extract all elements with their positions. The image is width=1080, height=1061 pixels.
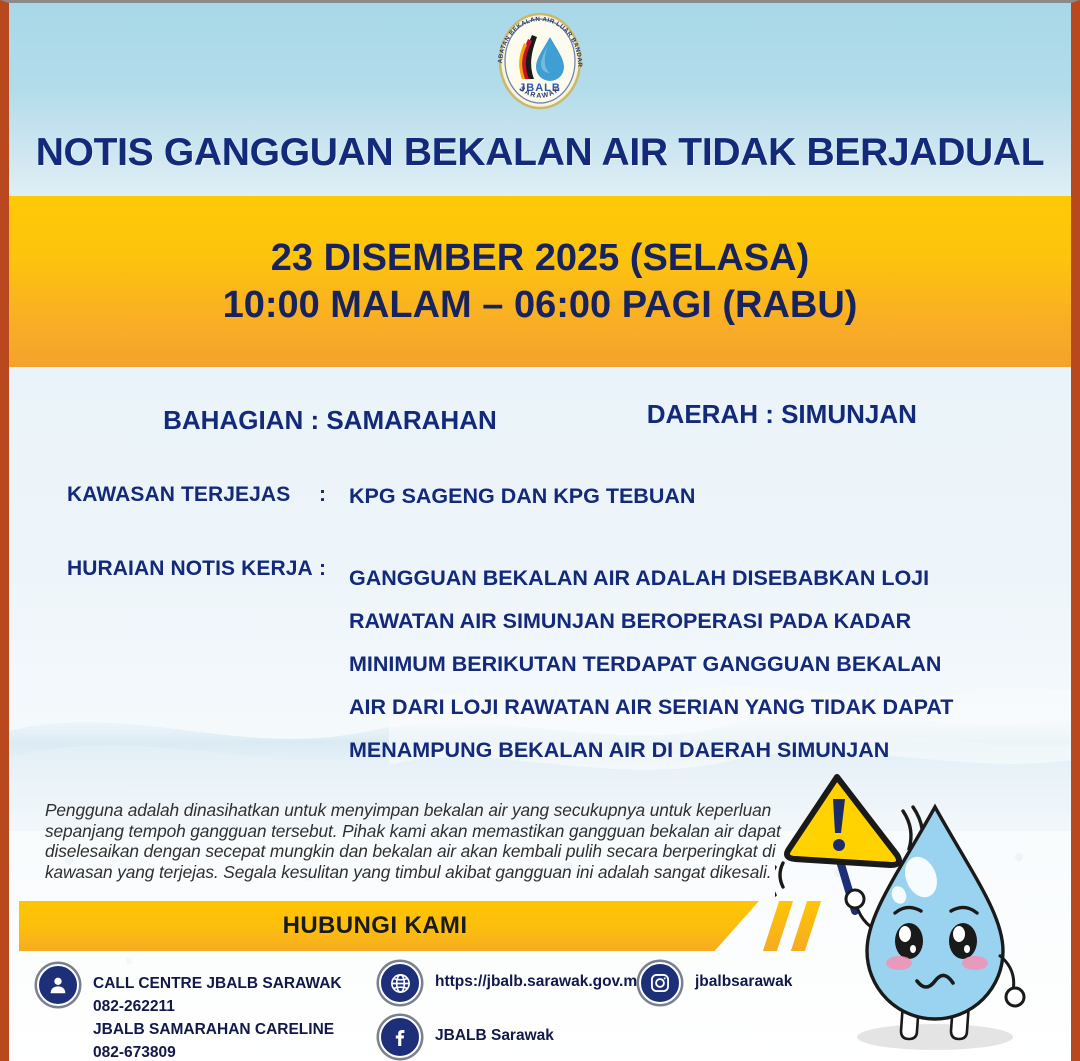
instagram-icon [639,962,681,1004]
bahagian-label: BAHAGIAN : SAMARAHAN [163,405,497,436]
globe-icon [379,962,421,1004]
huraian-line: MINIMUM BERIKUTAN TERDAPAT GANGGUAN BEKA… [349,643,1031,686]
banner-stripe-1 [763,901,793,951]
contact-banner-title: HUBUNGI KAMI [283,912,468,940]
call-centre-name: CALL CENTRE JBALB SARAWAK [93,972,342,995]
header-band: JBALB JABATAN BEKALAN AIR LUAR BANDAR SA… [9,3,1071,196]
careline-name: JBALB SAMARAHAN CARELINE [93,1018,342,1041]
website-url[interactable]: https://jbalb.sarawak.gov.my/ [435,962,650,993]
banner-stripe-2 [791,901,821,951]
huraian-line: GANGGUAN BEKALAN AIR ADALAH DISEBABKAN L… [349,557,1031,600]
outage-date: 23 DISEMBER 2025 (SELASA) [271,237,810,280]
call-centre-text: CALL CENTRE JBALB SARAWAK 082-262211 JBA… [93,964,342,1061]
contact-banner: HUBUNGI KAMI [19,901,759,951]
outage-time: 10:00 MALAM – 06:00 PAGI (RABU) [223,284,858,327]
kawasan-colon: : [319,483,349,507]
contact-facebook[interactable]: JBALB Sarawak [379,1016,554,1058]
region-row: BAHAGIAN : SAMARAHAN DAERAH : SIMUNJAN [9,399,1071,430]
call-centre-number: 082-262211 [93,995,342,1018]
field-kawasan-terjejas: KAWASAN TERJEJAS : KPG SAGENG DAN KPG TE… [67,483,1031,509]
kawasan-values: KPG SAGENG DAN KPG TEBUAN [349,483,1031,509]
kawasan-label: KAWASAN TERJEJAS [67,483,319,507]
contacts-section: CALL CENTRE JBALB SARAWAK 082-262211 JBA… [9,962,1071,1061]
facebook-page[interactable]: JBALB Sarawak [435,1016,554,1047]
advisory-text: Pengguna adalah dinasihatkan untuk menyi… [45,800,783,882]
huraian-values: GANGGUAN BEKALAN AIR ADALAH DISEBABKAN L… [349,557,1031,772]
contact-call-centre[interactable]: CALL CENTRE JBALB SARAWAK 082-262211 JBA… [37,964,342,1061]
jbalb-sarawak-logo: JBALB JABATAN BEKALAN AIR LUAR BANDAR SA… [488,9,592,113]
notice-poster: JBALB JABATAN BEKALAN AIR LUAR BANDAR SA… [0,0,1080,1061]
huraian-line: RAWATAN AIR SIMUNJAN BEROPERASI PADA KAD… [349,600,1031,643]
huraian-line: AIR DARI LOJI RAWATAN AIR SERIAN YANG TI… [349,686,1031,729]
careline-number: 082-673809 [93,1041,342,1061]
kawasan-line: KPG SAGENG DAN KPG TEBUAN [349,483,1031,509]
contact-website[interactable]: https://jbalb.sarawak.gov.my/ [379,962,650,1004]
facebook-icon [379,1016,421,1058]
huraian-label: HURAIAN NOTIS KERJA [67,557,319,581]
contact-instagram[interactable]: jbalbsarawak [639,962,792,1004]
huraian-line: MENAMPUNG BEKALAN AIR DI DAERAH SIMUNJAN [349,729,1031,772]
body-section: BAHAGIAN : SAMARAHAN DAERAH : SIMUNJAN K… [9,367,1071,1061]
huraian-colon: : [319,557,349,581]
date-band: 23 DISEMBER 2025 (SELASA) 10:00 MALAM – … [9,196,1071,367]
field-huraian-notis-kerja: HURAIAN NOTIS KERJA : GANGGUAN BEKALAN A… [67,557,1031,772]
instagram-handle[interactable]: jbalbsarawak [695,962,792,993]
page-title: NOTIS GANGGUAN BEKALAN AIR TIDAK BERJADU… [9,131,1071,175]
daerah-label: DAERAH : SIMUNJAN [647,399,917,430]
person-icon [37,964,79,1006]
